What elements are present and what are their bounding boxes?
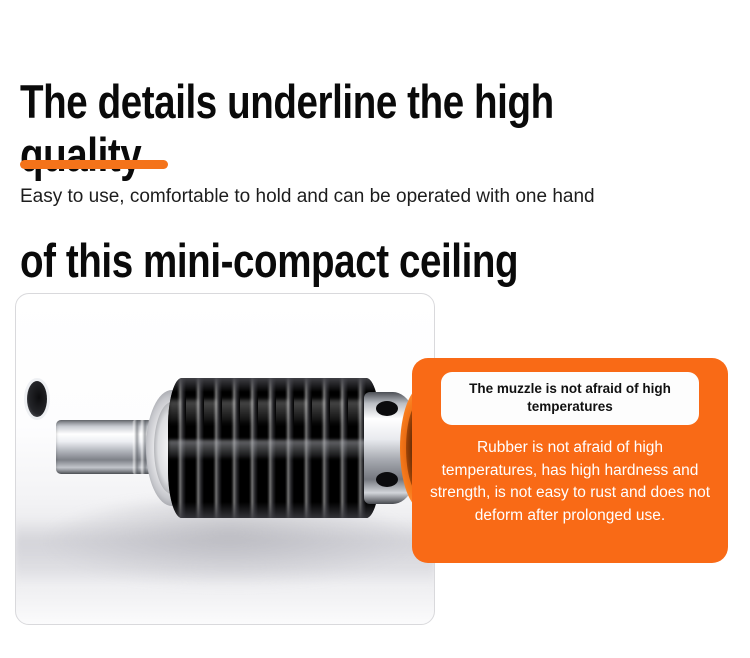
accent-divider <box>20 160 168 169</box>
page-subtitle: Easy to use, comfortable to hold and can… <box>20 182 640 212</box>
product-image <box>28 372 435 522</box>
muzzle-bore <box>27 381 47 417</box>
rubber-sleeve <box>168 378 380 518</box>
callout-title-pill: The muzzle is not afraid of high tempera… <box>441 372 699 425</box>
feature-callout-card: The muzzle is not afraid of high tempera… <box>412 358 728 563</box>
callout-body-text: Rubber is not afraid of high temperature… <box>424 437 716 527</box>
collar-vent-hole-top <box>376 401 398 416</box>
sleeve-edge-bottom <box>168 502 380 518</box>
collar-vent-hole-bottom <box>376 472 398 487</box>
sleeve-fins <box>168 378 380 518</box>
product-photo-panel <box>15 293 435 625</box>
sleeve-edge-top <box>168 378 380 392</box>
